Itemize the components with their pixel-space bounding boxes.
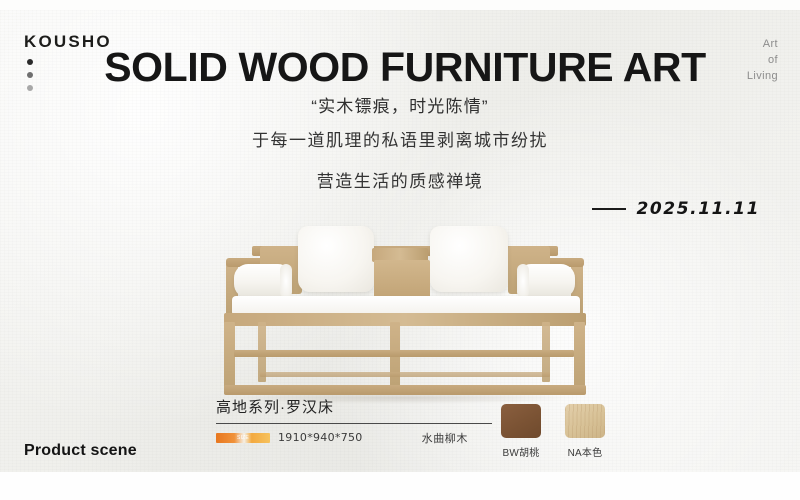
pillow-right (430, 226, 508, 292)
swatch-label-na: NA本色 (564, 444, 606, 459)
bottom-edge-band (0, 472, 800, 500)
top-edge-band (0, 0, 800, 10)
footer-label: Product scene (24, 442, 137, 460)
date-block: 2025.11.11 (592, 199, 760, 219)
subtitle-block: “实木镖痕，时光陈情” 于每一道肌理的私语里剥离城市纷扰 营造生活的质感禅境 (0, 94, 800, 202)
tagline-line-2: of (747, 52, 778, 68)
product-material: 水曲柳木 (208, 430, 468, 446)
product-name: 高地系列·罗汉床 (216, 398, 492, 418)
swatch-chip-bw[interactable] (501, 404, 541, 438)
swatch-na[interactable]: NA本色 (564, 404, 606, 459)
date-text: 2025.11.11 (636, 199, 760, 219)
pillow-left (298, 226, 374, 292)
bolster-left (234, 264, 292, 298)
subtitle-line-2: 营造生活的质感禅境 (0, 161, 800, 202)
subtitle-quote: “实木镖痕，时光陈情” (0, 94, 800, 120)
stretcher-back (260, 372, 550, 377)
date-rule-icon (592, 208, 626, 210)
color-swatch-group: BW胡桃 NA本色 (500, 404, 606, 459)
product-photo (212, 222, 597, 400)
tagline-line-1: Art (747, 36, 778, 52)
swatch-bw[interactable]: BW胡桃 (500, 404, 542, 459)
leg-front-left (224, 322, 235, 394)
tagline-line-3: Living (747, 68, 778, 84)
subtitle-line-1: 于每一道肌理的私语里剥离城市纷扰 (0, 120, 800, 161)
page-title: SOLID WOOD FURNITURE ART (0, 47, 800, 88)
daybed-illustration (212, 222, 597, 400)
leg-front-right (574, 322, 585, 394)
swatch-label-bw: BW胡桃 (500, 444, 542, 459)
stretcher-mid (234, 350, 574, 357)
product-divider (216, 423, 492, 424)
seat-frame (224, 313, 586, 326)
swatch-chip-na[interactable] (565, 404, 605, 438)
tagline-block: Art of Living (747, 36, 778, 84)
stretcher-bottom (224, 385, 586, 395)
poster-canvas: KOUSHO SOLID WOOD FURNITURE ART Art of L… (0, 0, 800, 500)
bolster-right (517, 264, 575, 298)
